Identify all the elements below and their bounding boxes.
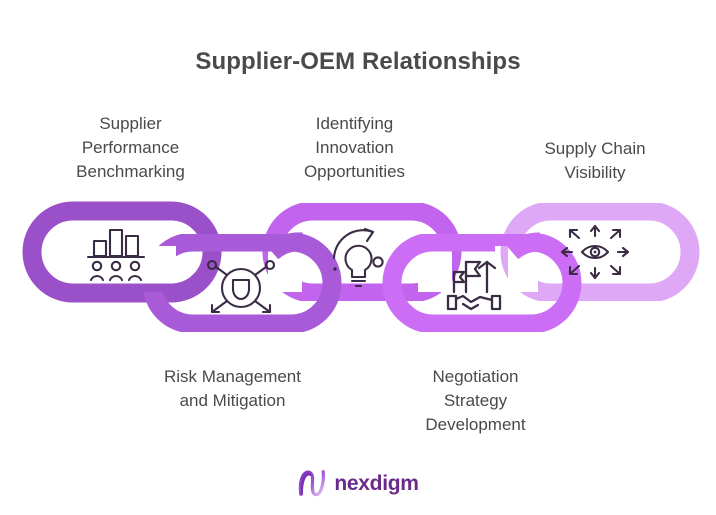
- chain-link-label-identifying-innovation-opportunities: Identifying Innovation Opportunities: [262, 112, 447, 184]
- nexdigm-wordmark: nexdigm: [334, 473, 418, 494]
- chain-link-supply-chain-visibility: [510, 211, 690, 293]
- footer-logo: nexdigm: [0, 468, 716, 498]
- chain-link-label-supplier-performance-benchmarking: Supplier Performance Benchmarking: [28, 112, 233, 184]
- bar-chart-people-icon: [88, 230, 144, 280]
- chain-link-label-supply-chain-visibility: Supply Chain Visibility: [500, 137, 690, 185]
- chain-link-identifying-innovation-opportunities: [272, 211, 452, 293]
- page-title: Supplier-OEM Relationships: [0, 48, 716, 76]
- eye-visibility-icon: [562, 226, 628, 278]
- chain-link-label-negotiation-strategy-development: Negotiation Strategy Development: [383, 365, 568, 437]
- shield-network-icon: [208, 261, 274, 312]
- chain-link-risk-management-and-mitigation: [152, 242, 332, 324]
- infographic-canvas: Supplier-OEM Relationships: [0, 0, 716, 515]
- chain-link-label-risk-management-and-mitigation: Risk Management and Mitigation: [130, 365, 335, 413]
- nexdigm-n-mark-icon: [297, 468, 327, 498]
- chain-diagram: [0, 0, 716, 515]
- handshake-flag-icon: [448, 262, 500, 309]
- lightbulb-idea-icon: [333, 229, 382, 286]
- chain-link-supplier-performance-benchmarking: [32, 211, 212, 293]
- chain-link-negotiation-strategy-development: [392, 242, 572, 324]
